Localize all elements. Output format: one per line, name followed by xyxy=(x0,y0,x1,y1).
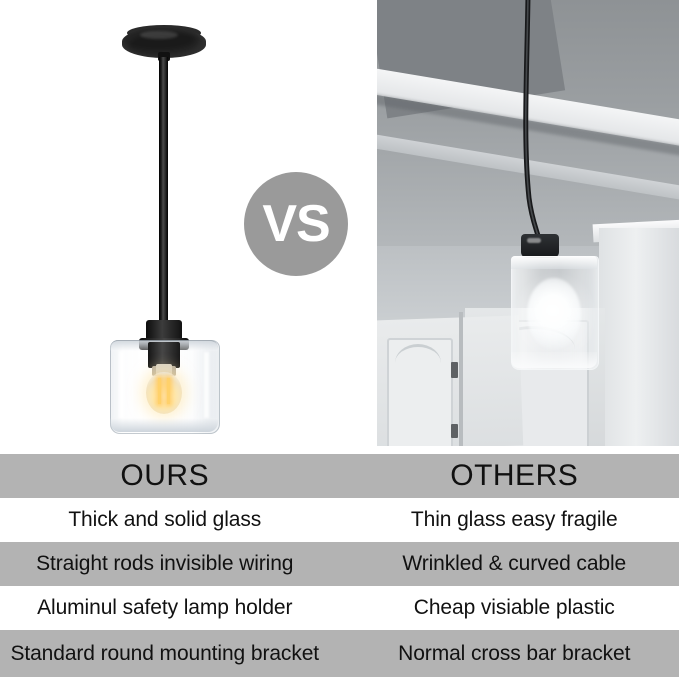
table-row: Thick and solid glass Thin glass easy fr… xyxy=(0,498,679,542)
straight-rod-icon xyxy=(159,57,168,330)
others-feature-cell: Normal cross bar bracket xyxy=(340,630,679,677)
photo-glass-shade-bottom-rim xyxy=(511,352,597,368)
column-header-ours: OURS xyxy=(0,454,340,498)
photo-cabinet-hinge-icon xyxy=(451,362,458,378)
ours-feature-cell: Straight rods invisible wiring xyxy=(0,542,340,586)
others-feature-cell: Cheap visiable plastic xyxy=(340,586,679,630)
others-feature-cell: Wrinkled & curved cable xyxy=(340,542,679,586)
photo-cabinet-hinge-icon xyxy=(451,424,458,438)
table-row: Straight rods invisible wiring Wrinkled … xyxy=(0,542,679,586)
ours-feature-cell: Standard round mounting bracket xyxy=(0,630,340,677)
comparison-table: OURS OTHERS Thick and solid glass Thin g… xyxy=(0,454,679,679)
vs-label: VS xyxy=(262,198,329,250)
photo-right-cabinet xyxy=(599,228,679,446)
table-row: Aluminul safety lamp holder Cheap visiab… xyxy=(0,586,679,630)
filament-strip-icon xyxy=(158,378,161,404)
hero-image-area: VS xyxy=(0,0,679,454)
glass-shade-bottom-rim-icon xyxy=(110,418,218,432)
photo-bulb-icon xyxy=(527,278,581,350)
photo-glass-shade-top-rim xyxy=(511,256,597,269)
led-filament-bulb-icon xyxy=(146,372,182,414)
others-product-photo xyxy=(377,0,679,446)
canopy-highlight-icon xyxy=(140,31,178,39)
glass-highlight-left-icon xyxy=(119,352,124,418)
others-feature-cell: Thin glass easy fragile xyxy=(340,498,679,542)
glass-highlight-right-icon xyxy=(204,352,209,418)
ours-feature-cell: Aluminul safety lamp holder xyxy=(0,586,340,630)
ours-feature-cell: Thick and solid glass xyxy=(0,498,340,542)
table-header-row: OURS OTHERS xyxy=(0,454,679,498)
photo-cabinet-seam xyxy=(459,312,463,446)
table-row: Standard round mounting bracket Normal c… xyxy=(0,630,679,677)
filament-strip-icon xyxy=(167,378,170,404)
comparison-infographic: VS xyxy=(0,0,679,679)
vs-badge: VS xyxy=(244,172,348,276)
column-header-others: OTHERS xyxy=(340,454,679,498)
photo-socket-highlight xyxy=(527,238,541,243)
